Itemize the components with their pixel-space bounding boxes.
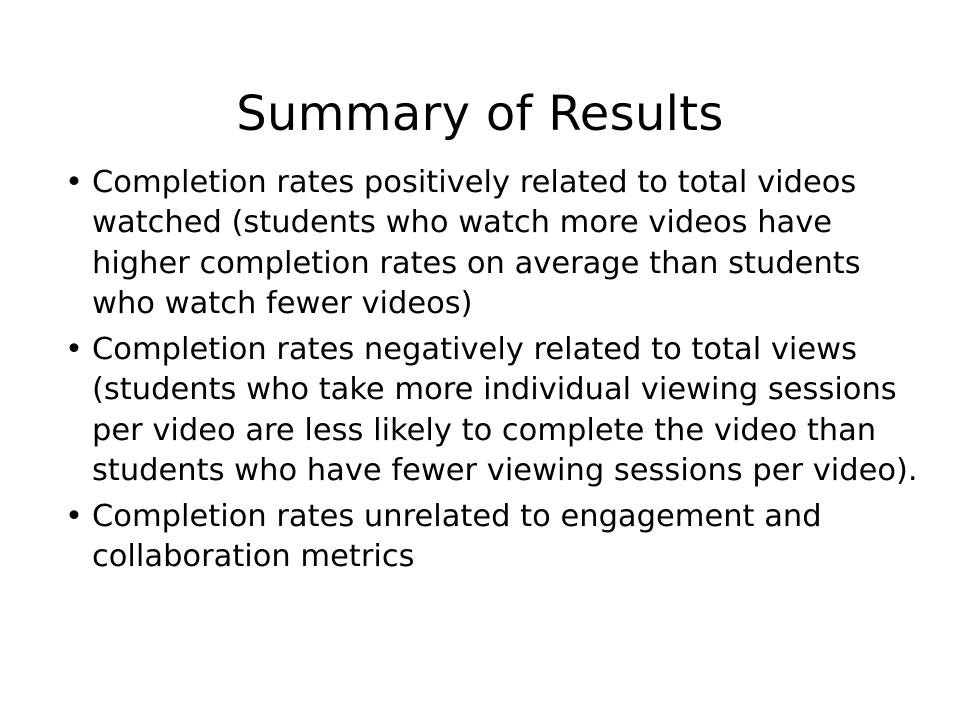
- list-item: • Completion rates unrelated to engageme…: [48, 497, 928, 578]
- list-item-text: Completion rates positively related to t…: [92, 163, 928, 324]
- slide: Summary of Results • Completion rates po…: [0, 0, 960, 720]
- list-item: • Completion rates positively related to…: [48, 163, 928, 324]
- list-item-text: Completion rates unrelated to engagement…: [92, 497, 928, 578]
- bullet-icon: •: [65, 330, 83, 370]
- bullet-icon: •: [65, 163, 83, 203]
- bullet-icon: •: [65, 497, 83, 537]
- page-title: Summary of Results: [0, 88, 960, 141]
- list-item: • Completion rates negatively related to…: [48, 330, 928, 491]
- list-item-text: Completion rates negatively related to t…: [92, 330, 928, 491]
- bullet-list: • Completion rates positively related to…: [48, 163, 928, 584]
